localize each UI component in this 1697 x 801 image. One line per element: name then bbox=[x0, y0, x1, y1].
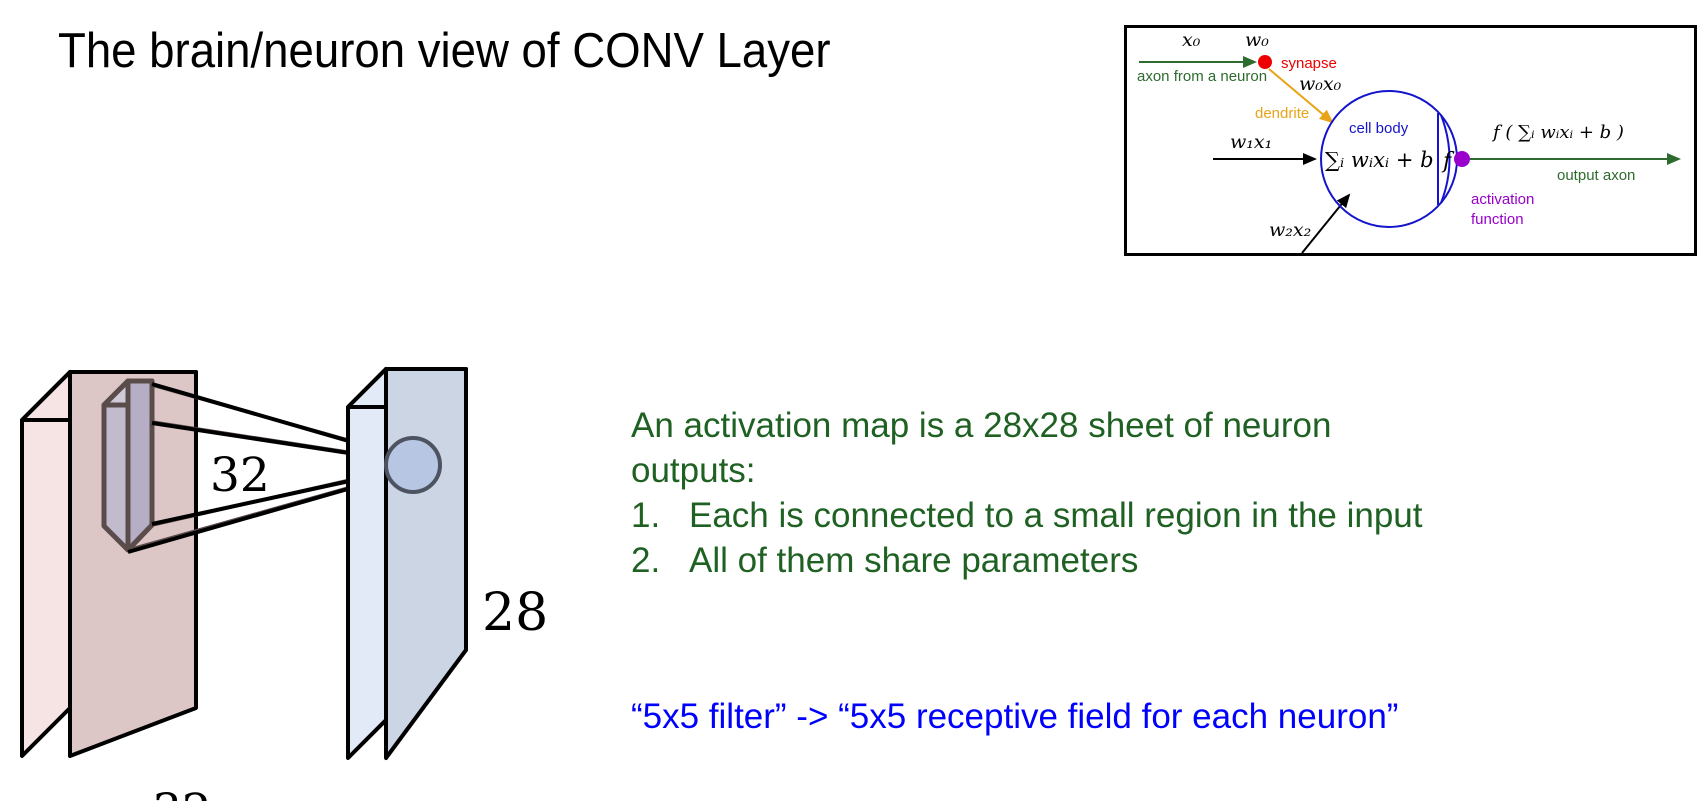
list-item-label: Each is connected to a small region in t… bbox=[689, 494, 1423, 539]
list-item-number: 2. bbox=[631, 539, 689, 584]
f-symbol-label: f bbox=[1441, 149, 1455, 174]
input-height-label: 32 bbox=[152, 788, 212, 801]
activation-map-description: An activation map is a 28x28 sheet of ne… bbox=[631, 404, 1451, 494]
axon-from-neuron-label: axon from a neuron bbox=[1137, 68, 1267, 85]
list-item-label: All of them share parameters bbox=[689, 539, 1138, 584]
activation-function-label-line2: function bbox=[1471, 211, 1524, 228]
synapse-label: synapse bbox=[1281, 55, 1337, 72]
page-title: The brain/neuron view of CONV Layer bbox=[58, 23, 831, 79]
output-width-label: 28 bbox=[482, 587, 548, 639]
x0-label: x₀ bbox=[1182, 29, 1201, 51]
body-text-block: An activation map is a 28x28 sheet of ne… bbox=[631, 404, 1697, 584]
list-item-number: 1. bbox=[631, 494, 689, 539]
receptive-field-callout: “5x5 filter” -> “5x5 receptive field for… bbox=[631, 697, 1398, 737]
slide-canvas: The brain/neuron view of CONV Layer bbox=[0, 0, 1697, 801]
input-width-label: 32 bbox=[210, 452, 270, 499]
output-axon-label: output axon bbox=[1557, 167, 1635, 184]
activation-dot bbox=[1454, 151, 1470, 167]
w1x1-label: w₁x₁ bbox=[1230, 131, 1272, 153]
w0x0-label: w₀x₀ bbox=[1299, 73, 1342, 95]
w2x2-label: w₂x₂ bbox=[1269, 219, 1311, 241]
w0-label: w₀ bbox=[1245, 29, 1269, 51]
biological-neuron-figure: x₀ w₀ synapse axon from a neuron w₀x₀ de… bbox=[1124, 25, 1697, 256]
dendrite-label: dendrite bbox=[1255, 105, 1309, 122]
output-volume-side-face bbox=[348, 369, 386, 758]
volume-diagram-svg bbox=[0, 180, 580, 801]
properties-list: 1. Each is connected to a small region i… bbox=[631, 494, 1697, 584]
neuron-figure-svg: x₀ w₀ synapse axon from a neuron w₀x₀ de… bbox=[1127, 28, 1694, 253]
receptive-field-front-face bbox=[128, 381, 152, 550]
list-item: 2. All of them share parameters bbox=[631, 539, 1697, 584]
list-item: 1. Each is connected to a small region i… bbox=[631, 494, 1697, 539]
conv-volume-diagram: 32 32 3 28 28 bbox=[0, 180, 580, 801]
sum-expression-label: ∑ᵢ wᵢxᵢ + b bbox=[1325, 148, 1434, 172]
output-volume-front-face bbox=[386, 369, 466, 758]
cell-body-label: cell body bbox=[1349, 120, 1409, 137]
synapse-dot bbox=[1258, 55, 1272, 69]
input-volume-side-face bbox=[22, 372, 70, 756]
neuron-circle bbox=[386, 438, 440, 492]
activation-function-label-line1: activation bbox=[1471, 191, 1534, 208]
output-expression-label: f ( ∑ᵢ wᵢxᵢ + b ) bbox=[1491, 122, 1624, 143]
